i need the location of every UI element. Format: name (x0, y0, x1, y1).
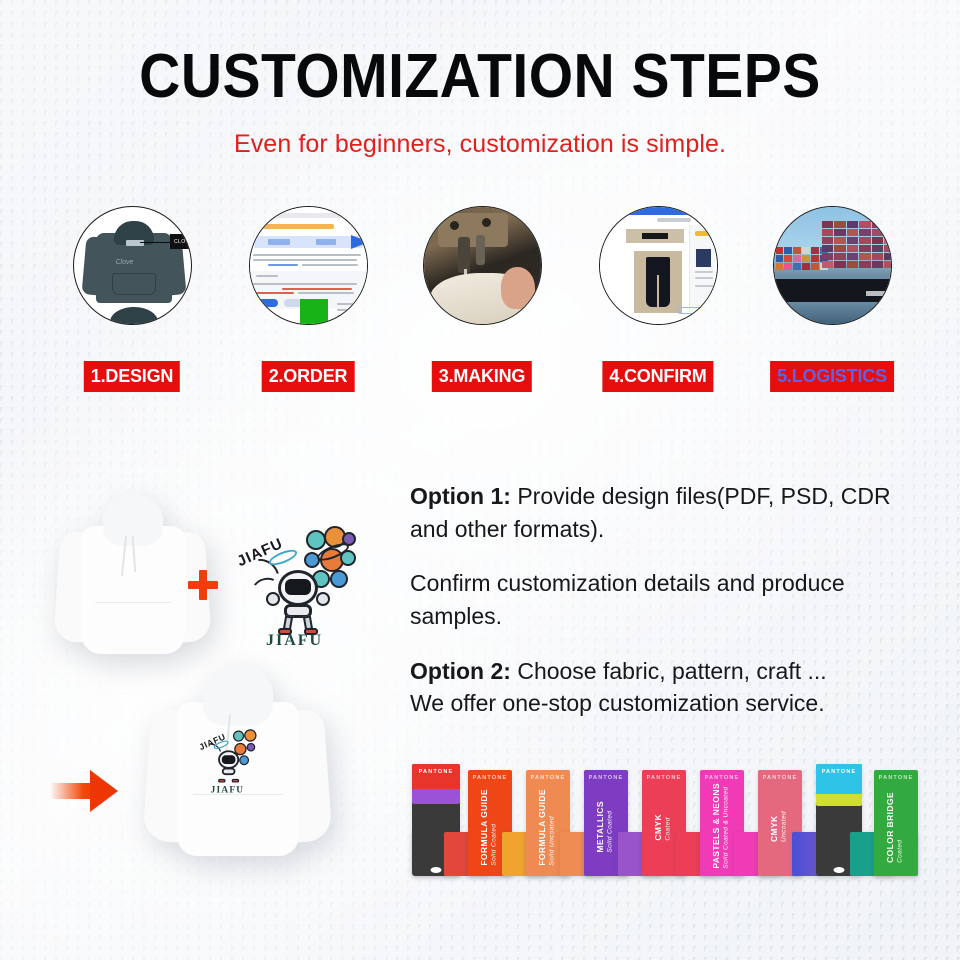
order-side-line (337, 309, 361, 311)
order-status-row (262, 224, 334, 229)
hoodie-pocket (112, 273, 156, 295)
astronaut-shoe-left (218, 779, 225, 783)
chat-toolbar-icons (657, 218, 691, 222)
fan-title: FORMULA GUIDESolid Coated (479, 789, 500, 866)
fan-top-strip: PANTONE (584, 773, 628, 782)
step-item-confirm[interactable]: 4.CONFIRM (596, 206, 720, 325)
astronaut-arm-left (266, 592, 280, 606)
option-lead-label: Option 2: (410, 658, 511, 684)
page-header: CUSTOMIZATION STEPS Even for beginners, … (0, 0, 960, 159)
pantone-fan[interactable]: PANTONE PANTONE COLOR BRIDGECoated (874, 770, 918, 876)
order-screenshot (250, 207, 367, 324)
fan-title: COLOR BRIDGECoated (885, 792, 906, 863)
sewing-machine-photo (424, 207, 541, 324)
pantone-color-guides: PANTONE PANTONE PANTONE FORMULA GUIDESol… (408, 756, 936, 876)
fan-title: PASTELS & NEONSSolid Coated & Uncoated (711, 783, 732, 869)
page-title: CUSTOMIZATION STEPS (38, 46, 921, 108)
order-primary-button[interactable] (256, 299, 278, 307)
black-pants-product (646, 257, 670, 307)
planet (233, 730, 244, 741)
step-badge-order: 2.ORDER (262, 361, 355, 392)
order-text-line (302, 264, 358, 266)
hoodie-pocket (193, 794, 283, 834)
step-image-logistics (773, 206, 892, 325)
option-block-2: Confirm customization details and produc… (410, 567, 930, 632)
order-side-line (337, 303, 361, 305)
order-progress-stepper (254, 236, 363, 248)
planet (244, 729, 256, 741)
step-image-making (423, 206, 542, 325)
option-line: We offer one-stop customization service. (410, 687, 930, 720)
planet (247, 743, 256, 752)
hoodie-pocket (95, 602, 171, 636)
fan-cover: PANTONE COLOR BRIDGECoated (874, 770, 918, 876)
operator-hand (501, 267, 535, 309)
option-line: Option 1: Provide design files(PDF, PSD,… (410, 480, 930, 545)
order-link-line (268, 264, 298, 266)
container-stack-main (822, 221, 892, 268)
option-line: Option 2: Choose fabric, pattern, craft … (410, 655, 930, 688)
astronaut-arm-right (316, 592, 330, 606)
pantone-brand-bar: PANTONE (816, 767, 862, 776)
fan-rivet (431, 867, 442, 873)
fan-top-strip: PANTONE (468, 773, 512, 782)
arrow-tail (50, 783, 94, 799)
fan-title: CMYKUncoated (769, 811, 790, 842)
order-topbar (264, 213, 360, 218)
brand-tag-label: CLOVE (170, 234, 192, 249)
fan-cover: PANTONE (412, 764, 460, 804)
order-text-line (253, 254, 361, 256)
container-ship-photo (774, 207, 891, 324)
machine-hole (450, 221, 459, 230)
steps-row: CLOVE Clove 1.DESIGN (0, 206, 960, 406)
chat-sidebar (689, 225, 715, 312)
machine-arm-secondary (476, 235, 485, 265)
step-badge-design: 1.DESIGN (84, 361, 180, 392)
step-image-confirm (599, 206, 718, 325)
fan-cover: PANTONE (816, 764, 862, 806)
option-body-text: Choose fabric, pattern, craft ... (511, 658, 827, 684)
order-green-block (300, 299, 328, 325)
container-stack-left (776, 247, 828, 270)
option-body-text: Confirm customization details and produc… (410, 570, 845, 629)
fan-top-strip: PANTONE (700, 773, 744, 782)
artwork-word-bottom: JIAFU (211, 785, 245, 796)
step-image-design: CLOVE Clove (73, 206, 192, 325)
chat-titlebar (618, 207, 694, 215)
order-text-line (253, 259, 357, 261)
chat-action-button[interactable] (677, 307, 707, 314)
planet (239, 755, 249, 765)
planet (330, 570, 348, 588)
chat-side-line (695, 271, 713, 273)
blank-hoodie (55, 490, 210, 660)
astronaut-torso (222, 768, 236, 775)
chat-side-line (695, 277, 713, 279)
fan-top-strip: PANTONE (526, 773, 570, 782)
pantone-brand-bar: PANTONE (412, 767, 460, 776)
step-item-logistics[interactable]: 5.LOGISTICS (770, 206, 894, 325)
chat-user-chip (695, 231, 713, 236)
step-item-making[interactable]: 3.MAKING (420, 206, 544, 325)
step-image-order (249, 206, 368, 325)
hoodie-hood (203, 664, 273, 726)
fan-title: FORMULA GUIDESolid Uncoated (537, 789, 558, 866)
option-block-3: Option 2: Choose fabric, pattern, craft … (410, 655, 930, 720)
step-item-design[interactable]: CLOVE Clove 1.DESIGN (70, 206, 194, 325)
chat-thumbnail (696, 249, 711, 267)
option-lead-label: Option 1: (410, 483, 511, 509)
plus-icon (188, 570, 218, 600)
artwork-word-bottom: JIAFU (266, 632, 323, 650)
order-arrow-icon (351, 235, 368, 249)
chest-script-mark: Clove (116, 259, 134, 266)
option-body-text: We offer one-stop customization service. (410, 690, 825, 716)
printed-hoodie: JIAFU JIAFU (145, 660, 330, 865)
order-side-line (337, 315, 361, 317)
product-composite: JIAFU JIAFU (0, 470, 410, 920)
chat-side-line (695, 285, 713, 287)
machine-arm (458, 237, 470, 273)
option-line: Confirm customization details and produc… (410, 567, 930, 632)
options-text-block: Option 1: Provide design files(PDF, PSD,… (410, 480, 930, 720)
step-badge-making: 3.MAKING (432, 361, 532, 392)
fan-title: CMYKCoated (653, 814, 674, 841)
chat-preview-card (626, 229, 684, 243)
planet (306, 530, 326, 550)
step-item-order[interactable]: 2.ORDER (246, 206, 370, 325)
step-badge-confirm: 4.CONFIRM (602, 361, 713, 392)
artwork-graphic: JIAFU JIAFU (232, 522, 362, 647)
water (774, 302, 892, 324)
astronaut-shoe-right (232, 779, 239, 783)
hoodie-shadow (110, 307, 158, 325)
astronaut-visor (285, 579, 311, 595)
promo-page: CUSTOMIZATION STEPS Even for beginners, … (0, 0, 960, 960)
arrow-head (90, 770, 118, 812)
machine-head (438, 213, 508, 247)
page-subtitle: Even for beginners, customization is sim… (0, 130, 960, 159)
option-block-1: Option 1: Provide design files(PDF, PSD,… (410, 480, 930, 545)
machine-hole (482, 218, 491, 227)
fan-top-strip: PANTONE (642, 773, 686, 782)
sample-photo (634, 251, 682, 313)
confirm-chat-screenshot (600, 207, 717, 324)
fan-rivet (834, 867, 845, 873)
printed-artwork: JIAFU JIAFU (197, 728, 248, 773)
astronaut-visor (222, 755, 236, 764)
arrow-right-icon (50, 770, 120, 812)
fan-top-strip: PANTONE (874, 773, 918, 782)
fan-title: METALLICSSolid Coated (595, 801, 616, 853)
step-badge-logistics: 5.LOGISTICS (770, 361, 894, 392)
fan-top-strip: PANTONE (758, 773, 802, 782)
